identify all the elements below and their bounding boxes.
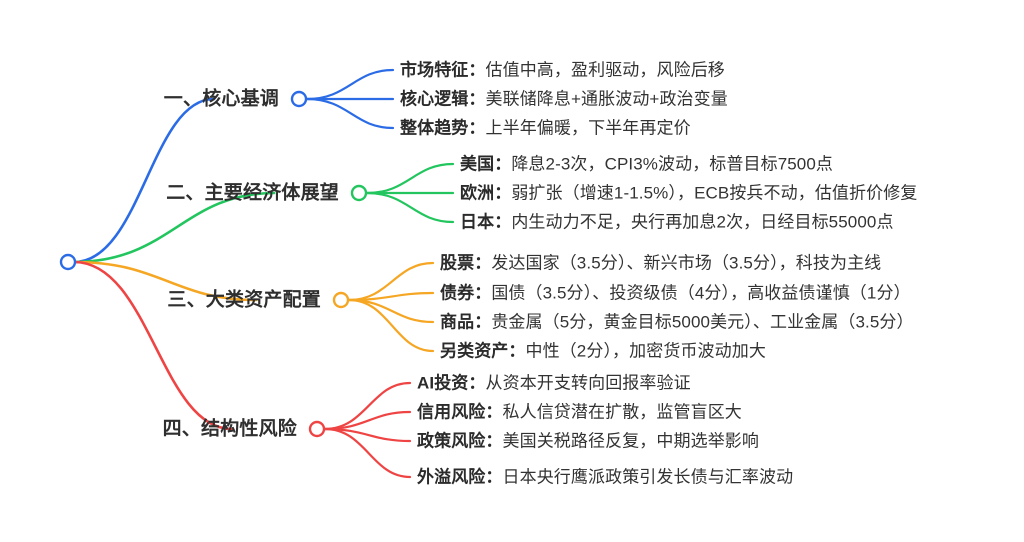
leaf-label-structural-risks-2-text: 美国关税路径反复，中期选举影响 (503, 432, 760, 451)
branch-node-asset-allocation[interactable] (334, 293, 348, 307)
edge-asset-allocation-leaf-2 (349, 300, 433, 322)
leaf-label-asset-allocation-3-lead: 另类资产： (440, 342, 526, 361)
edge-asset-allocation-leaf-0 (349, 263, 433, 300)
leaf-label-major-economies-1-lead: 欧洲： (460, 184, 511, 203)
leaf-label-asset-allocation-0-lead: 股票： (440, 254, 491, 273)
edge-asset-allocation-leaf-3 (349, 300, 433, 351)
edge-core-tone-leaf-2 (307, 99, 393, 128)
leaf-label-major-economies-1[interactable]: 欧洲：弱扩张（增速1-1.5%），ECB按兵不动，估值折价修复 (460, 185, 917, 202)
leaf-label-asset-allocation-3[interactable]: 另类资产：中性（2分），加密货币波动加大 (440, 343, 766, 360)
branch-node-major-economies[interactable] (352, 186, 366, 200)
leaf-label-structural-risks-1-text: 私人信贷潜在扩散，监管盲区大 (503, 403, 742, 422)
branch-label-core-tone[interactable]: 一、核心基调 (164, 90, 279, 109)
leaf-label-structural-risks-3-lead: 外溢风险： (417, 468, 503, 487)
branch-label-major-economies[interactable]: 二、主要经济体展望 (166, 184, 339, 203)
root-node[interactable] (61, 255, 75, 269)
leaf-label-structural-risks-0-text: 从资本开支转向回报率验证 (486, 374, 691, 393)
edge-layer (74, 70, 453, 477)
leaf-label-structural-risks-3-text: 日本央行鹰派政策引发长债与汇率波动 (503, 468, 794, 487)
leaf-label-major-economies-0[interactable]: 美国：降息2-3次，CPI3%波动，标普目标7500点 (460, 156, 833, 173)
leaf-label-structural-risks-1-lead: 信用风险： (417, 403, 503, 422)
edge-structural-risks-leaf-2 (325, 429, 410, 441)
leaf-label-core-tone-0-text: 估值中高，盈利驱动，风险后移 (486, 61, 725, 80)
edge-root-to-structural-risks (74, 262, 232, 429)
leaf-label-structural-risks-2-lead: 政策风险： (417, 432, 503, 451)
edge-structural-risks-leaf-3 (325, 429, 410, 477)
leaf-label-asset-allocation-1[interactable]: 债券：国债（3.5分）、投资级债（4分），高收益债谨慎（1分） (440, 285, 911, 302)
node-layer (61, 92, 366, 436)
leaf-label-structural-risks-0-lead: AI投资： (417, 374, 486, 393)
branch-node-structural-risks[interactable] (310, 422, 324, 436)
leaf-label-major-economies-0-lead: 美国： (460, 155, 511, 174)
leaf-label-structural-risks-2[interactable]: 政策风险：美国关税路径反复，中期选举影响 (417, 433, 759, 450)
leaf-label-core-tone-2-text: 上半年偏暖，下半年再定价 (486, 119, 691, 138)
branch-label-structural-risks[interactable]: 四、结构性风险 (163, 420, 297, 439)
edge-asset-allocation-leaf-1 (349, 293, 433, 300)
leaf-label-core-tone-1-text: 美联储降息+通胀波动+政治变量 (486, 90, 728, 109)
edge-major-economies-leaf-0 (367, 164, 453, 193)
leaf-label-core-tone-0[interactable]: 市场特征：估值中高，盈利驱动，风险后移 (400, 62, 725, 79)
leaf-label-structural-risks-1[interactable]: 信用风险：私人信贷潜在扩散，监管盲区大 (417, 404, 742, 421)
edge-major-economies-leaf-2 (367, 193, 453, 222)
leaf-label-core-tone-1[interactable]: 核心逻辑：美联储降息+通胀波动+政治变量 (400, 91, 728, 108)
leaf-label-asset-allocation-1-lead: 债券： (440, 284, 491, 303)
mindmap-canvas: 一、核心基调市场特征：估值中高，盈利驱动，风险后移核心逻辑：美联储降息+通胀波动… (0, 0, 1024, 542)
leaf-label-asset-allocation-2[interactable]: 商品：贵金属（5分，黄金目标5000美元）、工业金属（3.5分） (440, 314, 914, 331)
branch-node-core-tone[interactable] (292, 92, 306, 106)
leaf-label-core-tone-0-lead: 市场特征： (400, 61, 486, 80)
edge-structural-risks-leaf-1 (325, 412, 410, 429)
edge-core-tone-leaf-0 (307, 70, 393, 99)
edge-structural-risks-leaf-0 (325, 383, 410, 429)
leaf-label-core-tone-2[interactable]: 整体趋势：上半年偏暖，下半年再定价 (400, 120, 691, 137)
leaf-label-asset-allocation-0[interactable]: 股票：发达国家（3.5分）、新兴市场（3.5分），科技为主线 (440, 255, 881, 272)
leaf-label-asset-allocation-1-text: 国债（3.5分）、投资级债（4分），高收益债谨慎（1分） (491, 284, 910, 303)
leaf-label-structural-risks-3[interactable]: 外溢风险：日本央行鹰派政策引发长债与汇率波动 (417, 469, 793, 486)
leaf-label-major-economies-0-text: 降息2-3次，CPI3%波动，标普目标7500点 (511, 155, 833, 174)
leaf-label-asset-allocation-2-lead: 商品： (440, 313, 491, 332)
leaf-label-major-economies-2-lead: 日本： (460, 213, 511, 232)
leaf-label-structural-risks-0[interactable]: AI投资：从资本开支转向回报率验证 (417, 375, 691, 392)
leaf-label-asset-allocation-3-text: 中性（2分），加密货币波动加大 (526, 342, 766, 361)
edge-root-to-core-tone (74, 99, 214, 262)
leaf-label-major-economies-2-text: 内生动力不足，央行再加息2次，日经目标55000点 (511, 213, 893, 232)
leaf-label-asset-allocation-0-text: 发达国家（3.5分）、新兴市场（3.5分），科技为主线 (491, 254, 881, 273)
leaf-label-major-economies-1-text: 弱扩张（增速1-1.5%），ECB按兵不动，估值折价修复 (511, 184, 917, 203)
leaf-label-core-tone-2-lead: 整体趋势： (400, 119, 486, 138)
leaf-label-core-tone-1-lead: 核心逻辑： (400, 90, 486, 109)
branch-label-asset-allocation[interactable]: 三、大类资产配置 (167, 291, 321, 310)
leaf-label-asset-allocation-2-text: 贵金属（5分，黄金目标5000美元）、工业金属（3.5分） (491, 313, 913, 332)
leaf-label-major-economies-2[interactable]: 日本：内生动力不足，央行再加息2次，日经目标55000点 (460, 214, 894, 231)
